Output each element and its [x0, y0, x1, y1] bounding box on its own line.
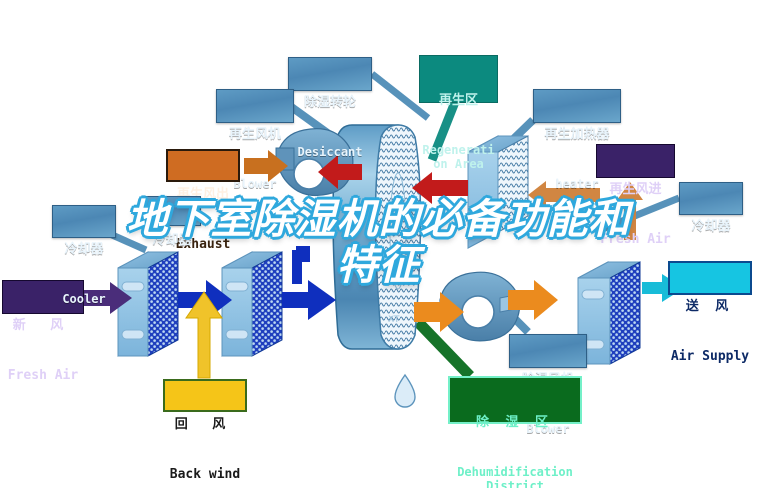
label-air-supply-cn: 送 风	[670, 300, 750, 315]
label-fresh-air-inlet-en: Fresh Air	[3, 369, 83, 384]
process-air-arrow-2	[282, 280, 336, 320]
label-regeneration-area: 再生区 Regenerati on Area	[419, 55, 498, 103]
dehumidifier-schematic-image: XT	[0, 0, 757, 488]
label-regeneration-blower-cn: 再生风机	[217, 128, 293, 143]
label-back-wind-en: Back wind	[165, 468, 245, 483]
label-regeneration-fresh-air-cn: 再生风进	[597, 183, 674, 198]
label-back-wind: 回 风 Back wind	[163, 379, 247, 412]
label-regeneration-blower: 再生风机 Blower	[216, 89, 294, 123]
label-cooler-mid-cn: 冷却器	[144, 234, 200, 249]
process-air-vertical-arrow	[296, 246, 310, 262]
label-cooler-left-cn: 冷却器	[53, 243, 115, 258]
label-air-supply-en: Air Supply	[670, 350, 750, 365]
label-regeneration-heater: 再生加热器 heater	[533, 89, 621, 123]
label-cooler-right: 冷却器 Cooler	[679, 182, 743, 215]
label-desiccant-wheel-en: Desiccant	[289, 146, 371, 159]
label-dehumidify-blower: 除湿风机 Blower	[509, 334, 587, 368]
label-regeneration-fresh-air: 再生风进 Fresh Air	[596, 144, 675, 178]
label-cooler-right-cn: 冷却器	[680, 220, 742, 235]
label-dehumidification-district: 除 湿 区 Dehumidification District	[448, 376, 582, 424]
label-regeneration-fresh-air-en: Fresh Air	[597, 233, 674, 248]
condensate-drop	[395, 375, 415, 407]
label-regeneration-heater-cn: 再生加热器	[534, 128, 620, 143]
label-exhaust: 再生风出 Exhaust	[166, 149, 240, 182]
label-dehumidification-district-en: Dehumidification District	[450, 466, 580, 488]
label-dehumidification-district-cn: 除 湿 区	[450, 416, 580, 431]
label-cooler-mid: 冷却器	[143, 196, 201, 226]
label-air-supply: 送 风 Air Supply	[668, 261, 752, 295]
label-cooler-left-en: Cooler	[53, 293, 115, 306]
label-regeneration-area-en: Regenerati on Area	[420, 144, 497, 171]
label-regeneration-area-cn: 再生区	[420, 94, 497, 109]
label-cooler-left: 冷却器 Cooler	[52, 205, 116, 238]
label-desiccant-wheel: 除湿转轮 Desiccant	[288, 57, 372, 91]
label-desiccant-wheel-cn: 除湿转轮	[289, 96, 371, 111]
label-back-wind-cn: 回 风	[165, 418, 245, 433]
svg-text:XT: XT	[388, 315, 400, 325]
